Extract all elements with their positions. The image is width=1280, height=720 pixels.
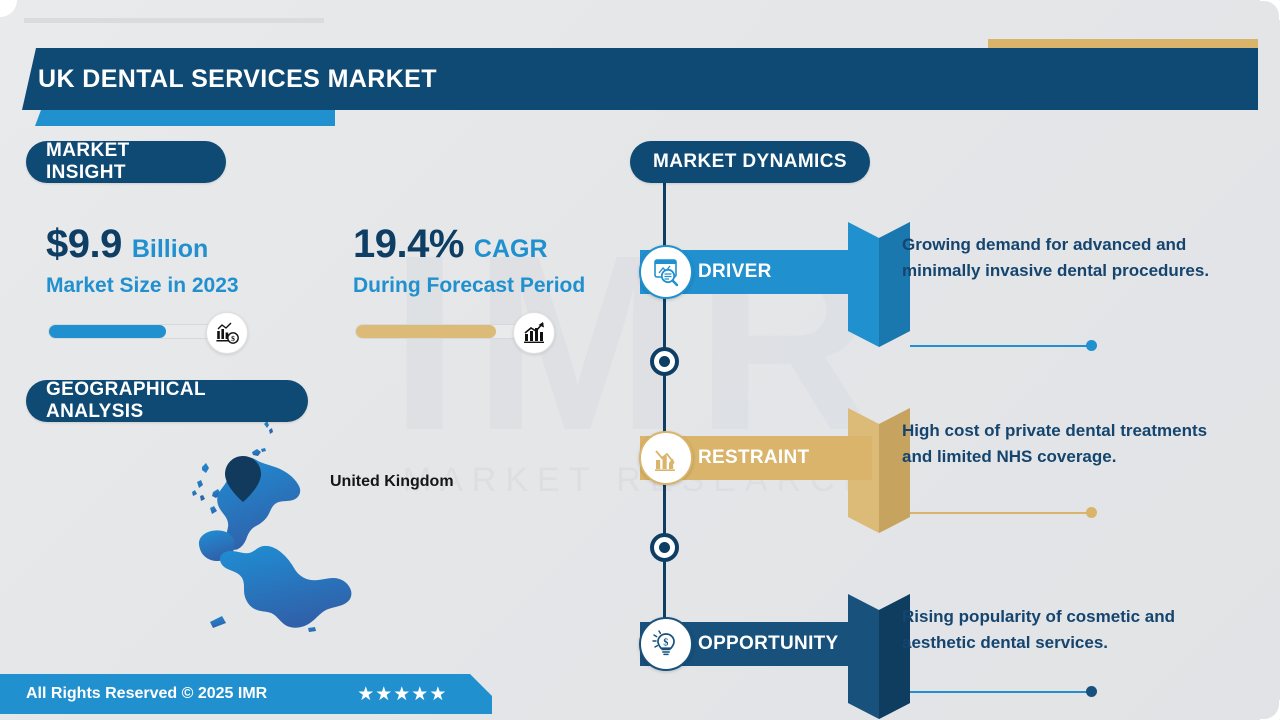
dynamics-description: Growing demand for advanced and minimall…: [902, 232, 1242, 285]
stat-headline: $9.9 Billion: [46, 222, 326, 267]
corner-decoration: [1260, 700, 1280, 720]
header-underline-accent: [35, 110, 335, 126]
header: UK DENTAL SERVICES MARKET: [0, 18, 1280, 128]
stat-cagr: 19.4% CAGR During Forecast Period: [353, 222, 643, 352]
progress-track: [355, 324, 537, 339]
copyright-text: All Rights Reserved © 2025 IMR: [26, 685, 267, 703]
report-magnifier-icon: [639, 245, 693, 299]
declining-chart-icon: [639, 431, 693, 485]
bar-chart-dollar-icon: $: [206, 312, 248, 354]
badge-label: OPPORTUNITY: [698, 633, 839, 655]
rule-end-dot: [1086, 686, 1097, 697]
svg-text:$: $: [663, 637, 668, 648]
stat-progress-row: $: [46, 312, 326, 352]
section-label-market-insight: MARKET INSIGHT: [26, 141, 226, 183]
dynamics-description: Rising popularity of cosmetic and aesthe…: [902, 604, 1242, 657]
badge-driver: DRIVER: [640, 250, 872, 294]
dynamics-description: High cost of private dental treatments a…: [902, 418, 1242, 471]
stat-unit: CAGR: [474, 235, 548, 264]
page-title: UK DENTAL SERVICES MARKET: [38, 48, 1138, 110]
market-dynamics-list: DRIVER Growing demand for advanced and m…: [630, 180, 1280, 720]
section-label-geographical-analysis: GEOGRAPHICAL ANALYSIS: [26, 380, 308, 422]
stat-label: Market Size in 2023: [46, 274, 326, 298]
svg-text:$: $: [231, 334, 235, 343]
rule-end-dot: [1086, 340, 1097, 351]
progress-fill: [356, 325, 496, 338]
stat-headline: 19.4% CAGR: [353, 222, 643, 267]
dynamics-rule: [910, 345, 1095, 347]
section-label-market-dynamics: MARKET DYNAMICS: [630, 141, 870, 183]
dynamics-rule: [910, 691, 1095, 693]
stat-unit: Billion: [132, 235, 208, 264]
badge-restraint: RESTRAINT: [640, 436, 872, 480]
stat-market-size: $9.9 Billion Market Size in 2023 $: [46, 222, 326, 352]
stat-value: $9.9: [46, 222, 122, 267]
rating-stars-icon: ★★★★★: [357, 683, 447, 706]
corner-decoration: [1260, 0, 1280, 20]
stat-value: 19.4%: [353, 222, 464, 267]
rule-end-dot: [1086, 507, 1097, 518]
header-thin-line-decoration: [24, 18, 324, 23]
stat-label: During Forecast Period: [353, 274, 643, 298]
growth-arrow-chart-icon: [513, 312, 555, 354]
dynamics-rule: [910, 512, 1095, 514]
badge-label: DRIVER: [698, 261, 772, 283]
badge-opportunity: $ OPPORTUNITY: [640, 622, 872, 666]
stat-progress-row: [353, 312, 643, 352]
united-kingdom-map: [180, 420, 440, 650]
lightbulb-dollar-icon: $: [639, 617, 693, 671]
map-country-label: United Kingdom: [330, 473, 454, 491]
progress-track: [48, 324, 230, 339]
badge-label: RESTRAINT: [698, 447, 809, 469]
infographic-page: IMR MARKET RESEARCH UK DENTAL SERVICES M…: [0, 0, 1280, 720]
timeline-node: [650, 533, 679, 562]
corner-decoration: [0, 0, 17, 17]
progress-fill: [49, 325, 166, 338]
footer: All Rights Reserved © 2025 IMR ★★★★★: [0, 674, 492, 714]
timeline-node: [650, 347, 679, 376]
